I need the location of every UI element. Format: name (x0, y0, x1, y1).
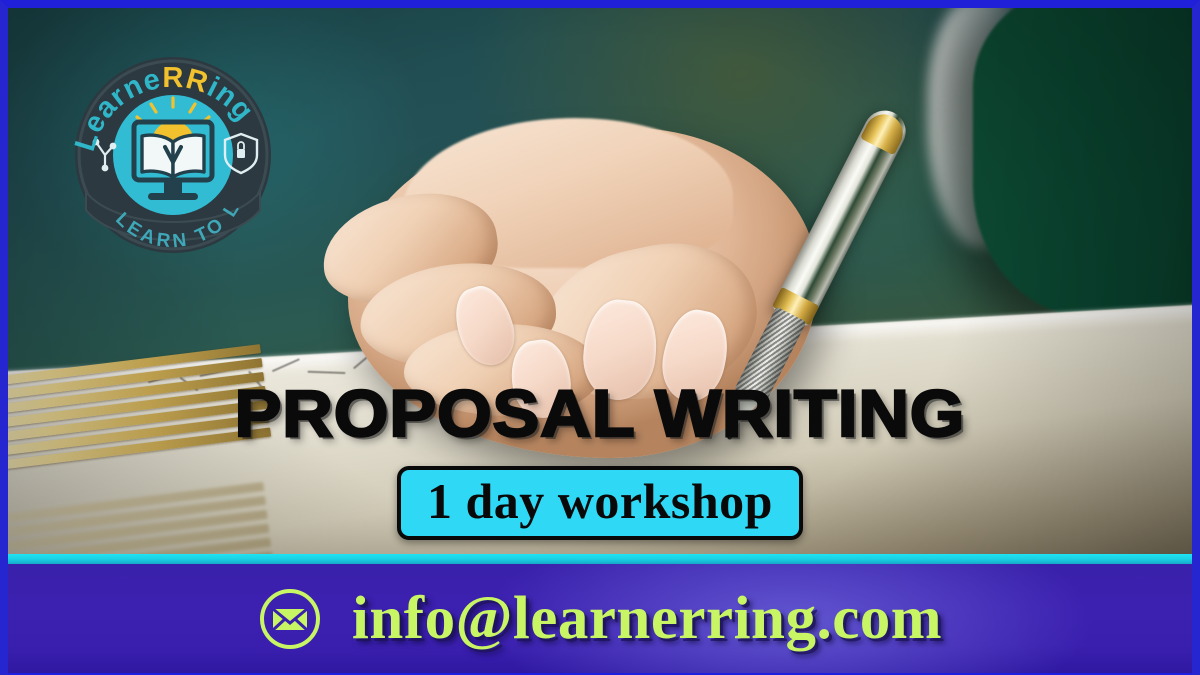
badge-container: 1 day workshop (8, 466, 1192, 540)
contact-email[interactable]: info@learnerring.com (352, 588, 942, 649)
workshop-duration-badge: 1 day workshop (397, 466, 803, 540)
page-title: PROPOSAL WRITING (0, 380, 1200, 446)
envelope-circle-icon[interactable] (258, 587, 322, 651)
open-book-icon (142, 135, 204, 177)
cyan-divider-stripe (8, 554, 1192, 564)
contact-bar: info@learnerring.com (8, 564, 1192, 675)
learnerring-logo[interactable]: LearneRRing LEARN TO LEAD (68, 50, 278, 260)
promo-banner: LearneRRing LEARN TO LEAD PROPOSAL WRITI… (0, 0, 1200, 675)
